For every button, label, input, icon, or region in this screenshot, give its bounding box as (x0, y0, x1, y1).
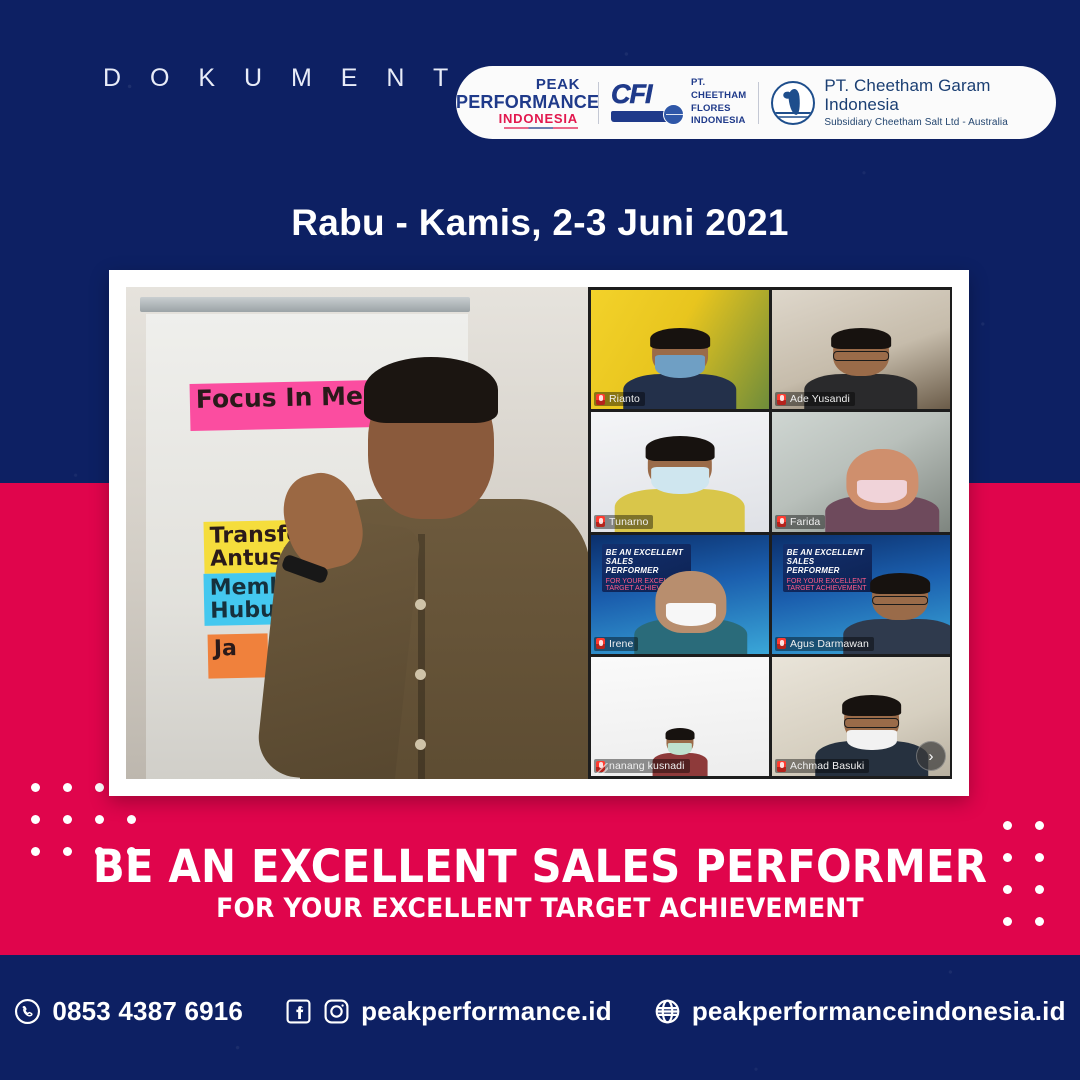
participant-tile[interactable]: nanang kusnadi (591, 657, 769, 776)
next-page-button[interactable]: › (916, 741, 946, 771)
website-url: peakperformanceindonesia.id (692, 996, 1066, 1027)
photo-frame: Focus In Me Transfer Antusiasme Membangu… (109, 270, 969, 796)
participant-tile[interactable]: BE AN EXCELLENT SALES PERFORMER FOR YOUR… (772, 535, 950, 654)
peak-performance-logo-line3: INDONESIA (456, 112, 586, 125)
participant-tile[interactable]: Rianto (591, 290, 769, 409)
instagram-icon (323, 998, 350, 1025)
peak-performance-logo-rule (504, 127, 578, 129)
participant-name: Rianto (609, 393, 640, 405)
promo-line1: BE AN EXCELLENT (606, 548, 687, 557)
contact-website[interactable]: peakperformanceindonesia.id (654, 996, 1066, 1027)
participant-name-chip: Achmad Basuki (775, 759, 869, 773)
cfi-logo-text: PT. CHEETHAM FLORES INDONESIA (691, 77, 746, 127)
participant-name: Agus Darmawan (790, 638, 869, 650)
sponsor-logo-bar: PEAK PERFORMANCE INDONESIA CFI PT. CHEET… (456, 66, 1056, 139)
globe-icon (663, 104, 684, 125)
participant-name: Achmad Basuki (790, 760, 864, 772)
participant-name: Farida (790, 516, 820, 528)
globe-icon (654, 998, 681, 1025)
mic-muted-icon (596, 394, 605, 405)
peak-performance-logo: PEAK PERFORMANCE INDONESIA (456, 77, 586, 129)
cfi-mark: CFI (611, 81, 681, 125)
participant-grid: Rianto Ade Yusandi Tunarno (588, 287, 952, 779)
sticky-note-orange: Ja (208, 633, 269, 678)
cfi-logo-line1: PT. (691, 77, 746, 90)
poster-canvas: D O K U M E N T A S I PEAK PERFORMANCE I… (0, 0, 1080, 1080)
contact-footer: 0853 4387 6916 peakperformance.id peakpe… (0, 988, 1080, 1034)
participant-tile[interactable]: BE AN EXCELLENT SALES PERFORMER FOR YOUR… (591, 535, 769, 654)
contact-social[interactable]: peakperformance.id (285, 996, 612, 1027)
participant-name: nanang kusnadi (609, 760, 685, 772)
cfi-logo-line3: FLORES (691, 103, 746, 116)
speaker-video-pane: Focus In Me Transfer Antusiasme Membangu… (126, 287, 588, 779)
mic-muted-icon (777, 394, 786, 405)
cheetham-logo-subtitle: Subsidiary Cheetham Salt Ltd - Australia (824, 117, 1056, 128)
facebook-icon (285, 998, 312, 1025)
promo-line1: BE AN EXCELLENT (787, 548, 868, 557)
mic-muted-icon (777, 638, 786, 649)
event-date: Rabu - Kamis, 2-3 Juni 2021 (0, 202, 1080, 244)
cheetham-logo-title: PT. Cheetham Garam Indonesia (824, 77, 1056, 114)
participant-name: Ade Yusandi (790, 393, 850, 405)
participant-name: Irene (609, 638, 633, 650)
seahorse-seal-icon (771, 81, 815, 125)
participant-tile[interactable]: Tunarno (591, 412, 769, 531)
mic-muted-icon (596, 516, 605, 527)
participant-name-chip: Irene (594, 637, 638, 651)
cfi-logo-line4: INDONESIA (691, 115, 746, 128)
peak-performance-logo-line2: PERFORMANCE (456, 93, 586, 111)
page-subtitle: FOR YOUR EXCELLENT TARGET ACHIEVEMENT (38, 893, 1042, 924)
participant-tile[interactable]: Farida (772, 412, 950, 531)
logo-divider-1 (598, 82, 599, 124)
contact-phone[interactable]: 0853 4387 6916 (14, 996, 243, 1027)
phone-number: 0853 4387 6916 (52, 996, 243, 1027)
speaker-figure (276, 349, 588, 779)
cheetham-garam-logo: PT. Cheetham Garam Indonesia Subsidiary … (771, 77, 1056, 127)
participant-name-chip: Ade Yusandi (775, 392, 855, 406)
logo-divider-2 (758, 82, 759, 124)
mic-muted-icon (596, 638, 605, 649)
participant-name-chip: Farida (775, 515, 825, 529)
mic-muted-icon (777, 761, 786, 772)
peak-performance-logo-line1: PEAK (456, 77, 586, 92)
webinar-screenshot: Focus In Me Transfer Antusiasme Membangu… (126, 287, 952, 779)
mic-muted-icon (777, 516, 786, 527)
participant-name-chip: Agus Darmawan (775, 637, 874, 651)
cfi-logo: CFI PT. CHEETHAM FLORES INDONESIA (611, 77, 746, 127)
whatsapp-icon (14, 998, 41, 1025)
participant-name-chip: Tunarno (594, 515, 653, 529)
participant-name: Tunarno (609, 516, 648, 528)
participant-tile[interactable]: Ade Yusandi (772, 290, 950, 409)
social-handle: peakperformance.id (361, 996, 612, 1027)
page-title: BE AN EXCELLENT SALES PERFORMER (38, 840, 1042, 893)
resize-grip-handle[interactable] (596, 763, 608, 775)
cfi-logo-line2: CHEETHAM (691, 90, 746, 103)
participant-name-chip: Rianto (594, 392, 645, 406)
participant-name-chip: nanang kusnadi (594, 759, 690, 773)
